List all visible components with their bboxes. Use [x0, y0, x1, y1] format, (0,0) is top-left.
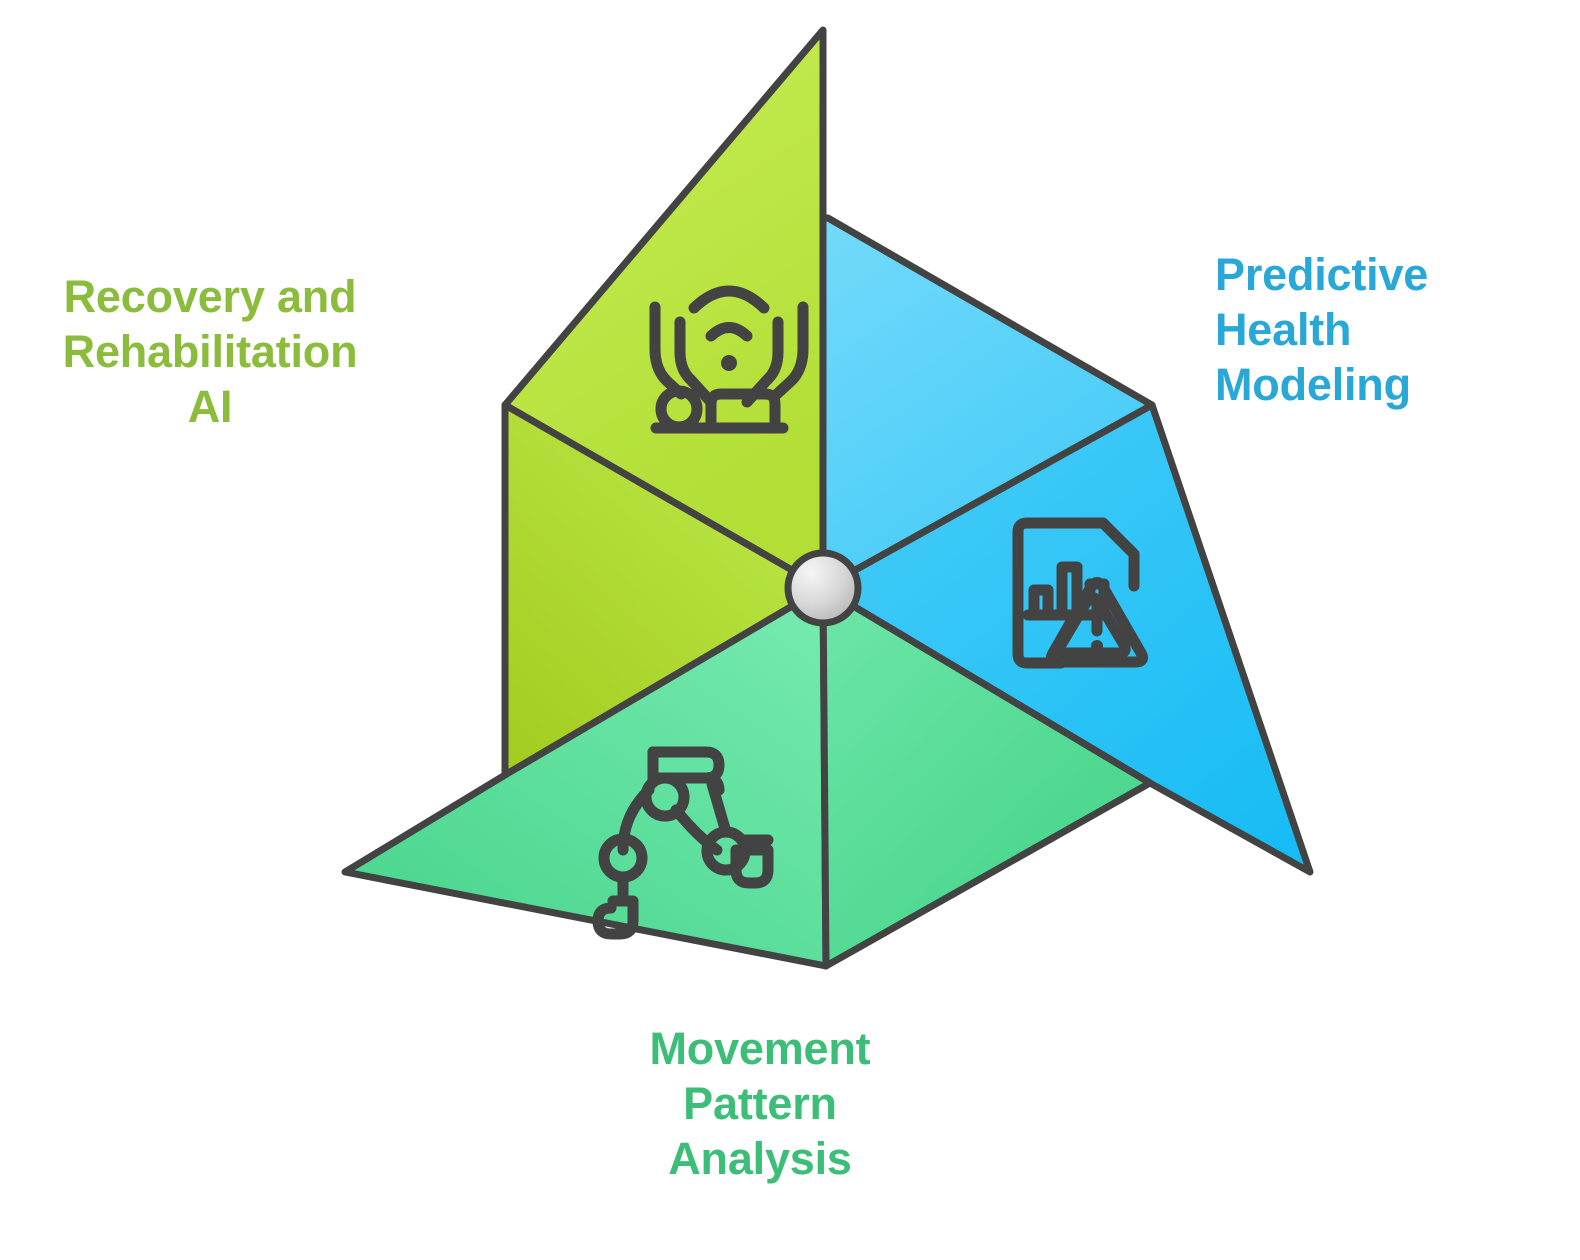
- segment-label-recovery: Recovery and Rehabilitation AI: [10, 270, 410, 435]
- segment-label-movement: Movement Pattern Analysis: [545, 1022, 975, 1187]
- segment-label-predictive: Predictive Health Modeling: [1215, 248, 1565, 413]
- center-hub[interactable]: [788, 553, 858, 623]
- diagram-canvas: Recovery and Rehabilitation AI Predictiv…: [0, 0, 1580, 1260]
